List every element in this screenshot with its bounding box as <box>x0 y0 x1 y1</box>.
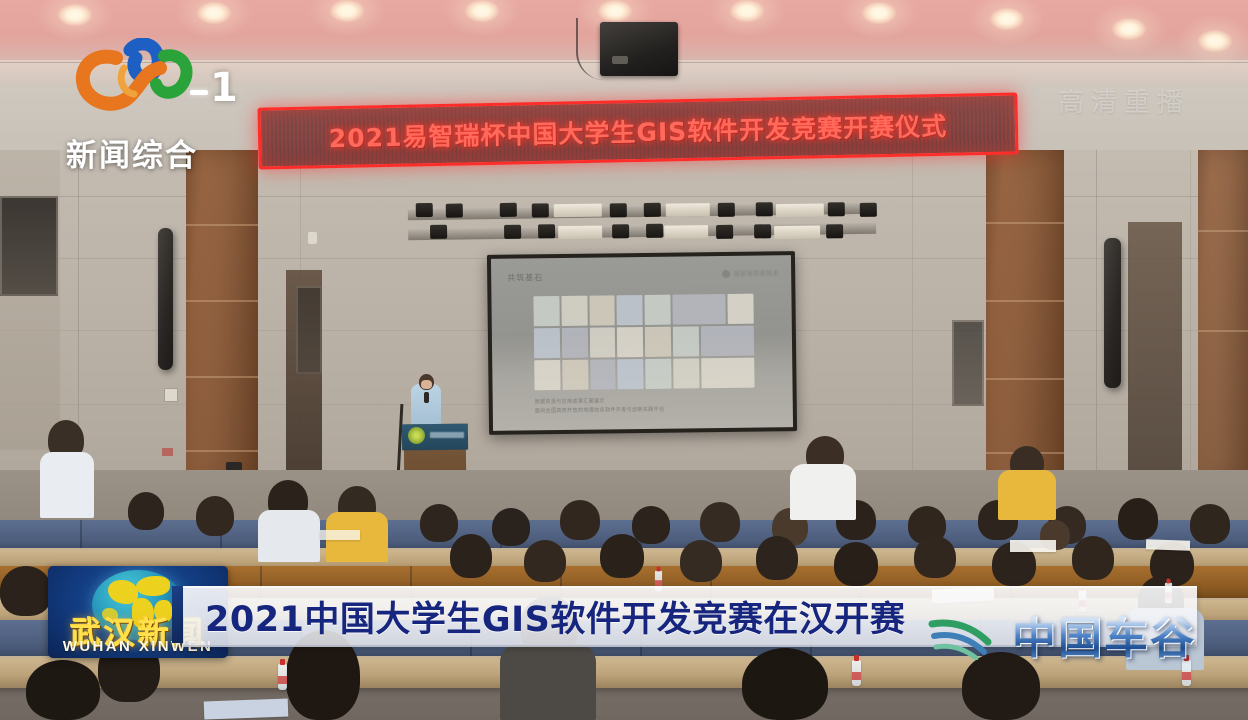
swoosh-icon <box>928 614 1012 660</box>
audience-member <box>128 492 164 530</box>
desk-paper <box>1146 539 1190 551</box>
slide-logo-text: 易智瑞信息技术 <box>734 268 780 278</box>
left-column-speaker <box>158 228 173 370</box>
slide-caption-line-2: 面向全国高校开放的地理信息软件开发与创新实践平台 <box>535 406 665 417</box>
desk-paper <box>320 530 360 540</box>
audience-member <box>632 506 670 544</box>
slide-heading: 共筑基石 <box>507 272 543 283</box>
channel-name: 新闻综合 <box>66 130 198 175</box>
audience-member <box>790 464 856 520</box>
hd-replay-watermark: 高清重播 <box>1058 82 1190 119</box>
right-wood-pillar <box>986 150 1064 490</box>
audience-member <box>914 536 956 578</box>
audience-member <box>450 534 492 578</box>
audience-member <box>600 534 644 578</box>
projector-lens <box>612 56 628 64</box>
wall-socket <box>164 388 178 402</box>
water-bottle <box>278 664 287 690</box>
channel-logo: 1 新闻综合 <box>58 38 228 168</box>
china-auto-valley-watermark: 中国车谷 <box>928 600 1196 672</box>
audience-member <box>500 644 596 720</box>
slide-caption: 数据资源与应用成果汇聚展示 面向全国高校开放的地理信息软件开发与创新实践平台 <box>535 397 665 417</box>
water-bottle <box>852 660 861 686</box>
audience-member <box>0 566 52 616</box>
audience-member <box>756 536 798 580</box>
projection-screen-frame: 共筑基石 易智瑞信息技术 <box>487 251 797 435</box>
broadcast-frame: 2021易智瑞杯中国大学生GIS软件开发竞赛开赛仪式 共筑基石 <box>0 0 1248 720</box>
presenter-face <box>421 380 432 389</box>
slide-logo-mark <box>723 269 731 277</box>
left-wood-pillar <box>186 150 258 484</box>
audience-member <box>40 452 94 518</box>
left-door-window <box>296 286 322 374</box>
left-wall-window <box>0 196 58 296</box>
wall-switch <box>162 448 173 456</box>
desk-paper <box>204 699 289 720</box>
stage-lighting-truss <box>408 197 877 250</box>
audience-member <box>26 660 100 720</box>
channel-logo-mark <box>72 38 198 120</box>
far-right-pillar <box>1198 150 1248 480</box>
led-banner-text: 2021易智瑞杯中国大学生GIS软件开发竞赛开赛仪式 <box>328 107 947 155</box>
audience-member <box>1072 536 1114 580</box>
projection-screen: 共筑基石 易智瑞信息技术 <box>491 255 793 431</box>
audience-member <box>258 510 320 562</box>
audience-member <box>1190 504 1230 544</box>
audience-member <box>680 540 722 582</box>
podium-nameplate <box>430 432 464 438</box>
audience-member <box>834 542 878 586</box>
right-wall-window <box>952 320 984 406</box>
slide-thumbnail-grid <box>533 294 754 399</box>
desk-paper <box>1010 540 1056 552</box>
channel-number: 1 <box>210 68 238 108</box>
ceiling-projector <box>600 22 678 76</box>
audience-member <box>998 470 1056 520</box>
audience-member <box>742 648 828 720</box>
left-wall-panel <box>0 150 60 450</box>
audience-member <box>700 502 740 542</box>
slide-logo: 易智瑞信息技术 <box>723 268 780 278</box>
wall-sensor <box>308 232 317 244</box>
right-doorway <box>1128 222 1182 492</box>
podium-emblem <box>408 427 425 444</box>
audience-member <box>420 504 458 542</box>
audience-member <box>196 496 234 536</box>
handheld-microphone <box>424 392 429 403</box>
channel-number-dash <box>190 90 208 95</box>
audience-member <box>1118 498 1158 540</box>
china-auto-valley-text: 中国车谷 <box>1012 602 1196 666</box>
headline-text: 2021中国大学生GIS软件开发竞赛在汉开赛 <box>205 591 905 642</box>
audience-member <box>524 540 566 582</box>
audience-member <box>560 500 600 540</box>
audience-member <box>492 508 530 546</box>
right-column-speaker <box>1104 238 1121 388</box>
